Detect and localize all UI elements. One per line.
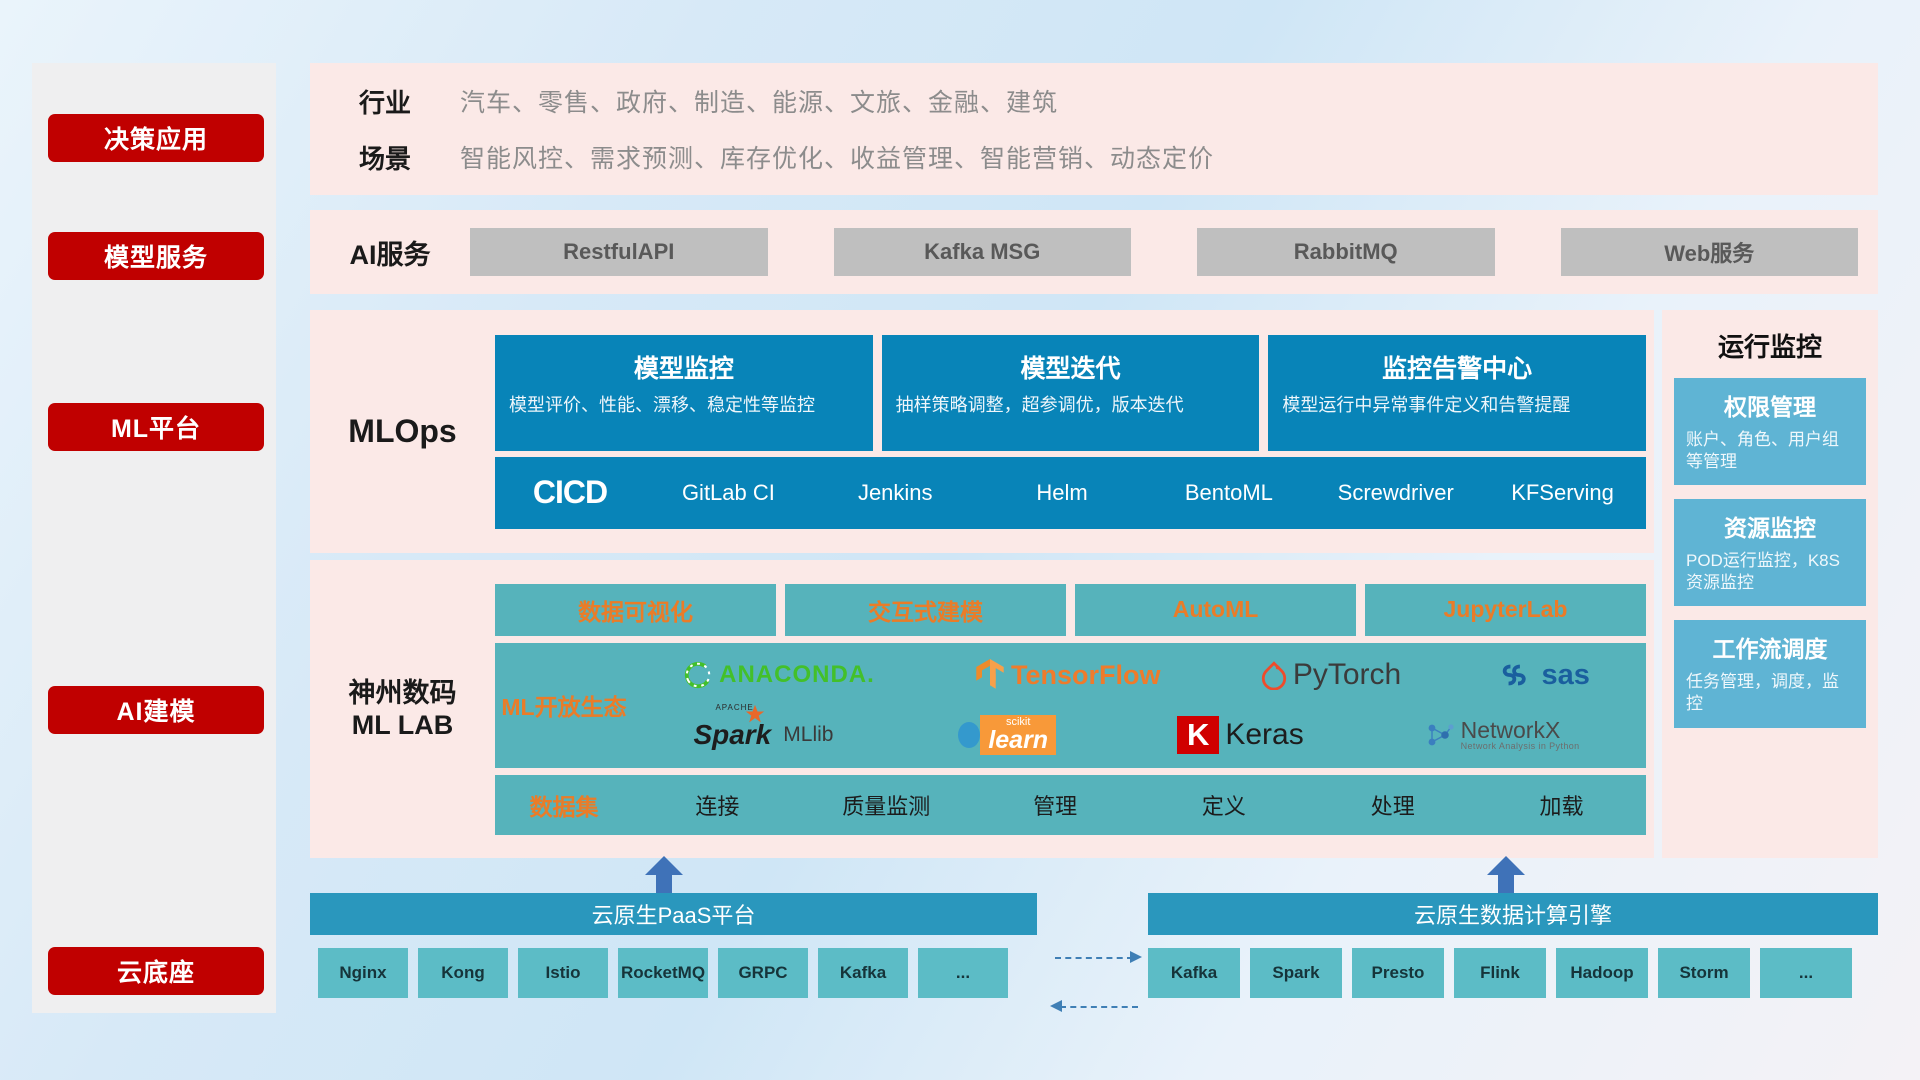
rail-item-ai-modeling[interactable]: AI建模: [48, 686, 264, 734]
service-label: Kafka MSG: [924, 239, 1040, 265]
dataset-item-process[interactable]: 处理: [1308, 789, 1477, 821]
logo-label: TensorFlow: [1011, 660, 1161, 691]
cicd-item-bentoml[interactable]: BentoML: [1145, 481, 1312, 505]
cloud-data-engine-chips: Kafka Spark Presto Flink Hadoop Storm ..…: [1148, 948, 1852, 998]
cicd-row: CICD GitLab CI Jenkins Helm BentoML Scre…: [495, 457, 1646, 529]
ai-service-label: AI服务: [310, 233, 470, 272]
chip-nginx[interactable]: Nginx: [318, 948, 408, 998]
logo-keras: K Keras: [1177, 716, 1304, 754]
industry-list: 汽车、零售、政府、制造、能源、文旅、金融、建筑: [460, 83, 1058, 119]
rail-item-label: 决策应用: [104, 120, 208, 156]
scenario-list: 智能风控、需求预测、库存优化、收益管理、智能营销、动态定价: [460, 139, 1214, 175]
cloud-data-engine-label: 云原生数据计算引擎: [1414, 898, 1612, 930]
logo-label: ANACONDA.: [719, 661, 875, 689]
cicd-item-screwdriver[interactable]: Screwdriver: [1312, 481, 1479, 505]
industry-label: 行业: [310, 83, 460, 120]
chip-flink[interactable]: Flink: [1454, 948, 1546, 998]
chip-grpc[interactable]: GRPC: [718, 948, 808, 998]
mlops-card-title: 模型监控: [509, 349, 859, 385]
service-label: Web服务: [1664, 236, 1754, 268]
runtime-monitoring-title: 运行监控: [1662, 310, 1878, 364]
ml-lab-band: 神州数码 ML LAB 数据可视化 交互式建模 AutoML JupyterLa…: [310, 560, 1654, 858]
chip-kong[interactable]: Kong: [418, 948, 508, 998]
logo-label: PyTorch: [1293, 658, 1401, 692]
tool-label: JupyterLab: [1444, 596, 1568, 623]
rail-item-label: AI建模: [116, 692, 195, 728]
tool-jupyterlab[interactable]: JupyterLab: [1365, 584, 1646, 636]
service-web[interactable]: Web服务: [1561, 228, 1859, 276]
ml-ecosystem-label: ML开放生态: [495, 643, 633, 768]
chip-storm[interactable]: Storm: [1658, 948, 1750, 998]
dataset-item-load[interactable]: 加载: [1477, 789, 1646, 821]
rail-item-label: 云底座: [117, 953, 195, 989]
dataset-row: 数据集 连接 质量监测 管理 定义 处理 加载: [495, 775, 1646, 835]
mlops-card-model-monitoring[interactable]: 模型监控 模型评价、性能、漂移、稳定性等监控: [495, 335, 873, 451]
spark-icon: APACHE Spark: [693, 719, 771, 751]
monitor-card-permission[interactable]: 权限管理 账户、角色、用户组等管理: [1674, 378, 1866, 485]
cloud-paas-chips: Nginx Kong Istio RocketMQ GRPC Kafka ...: [318, 948, 1008, 998]
rail-item-label: 模型服务: [104, 238, 208, 274]
mlops-card-title: 模型迭代: [896, 349, 1246, 385]
logo-networkx: NetworkX Network Analysis in Python: [1425, 719, 1580, 751]
rail-item-ml-platform[interactable]: ML平台: [48, 403, 264, 451]
logo-scikit-learn: scikit learn: [954, 715, 1056, 755]
service-kafka-msg[interactable]: Kafka MSG: [834, 228, 1132, 276]
monitor-card-title: 工作流调度: [1686, 630, 1854, 664]
chip-istio[interactable]: Istio: [518, 948, 608, 998]
dataset-title: 数据集: [495, 788, 633, 822]
rail-item-label: ML平台: [111, 409, 201, 445]
logo-spark-mllib: APACHE Spark MLlib: [693, 719, 833, 751]
logo-label: NetworkX: [1461, 719, 1580, 742]
mlops-card-desc: 抽样策略调整，超参调优，版本迭代: [896, 394, 1246, 417]
cicd-item-gitlab-ci[interactable]: GitLab CI: [645, 481, 812, 505]
dashed-connector-right: [1055, 957, 1133, 959]
dataset-item-manage[interactable]: 管理: [971, 789, 1140, 821]
networkx-subtitle: Network Analysis in Python: [1461, 742, 1580, 751]
monitor-card-resource[interactable]: 资源监控 POD运行监控，K8S资源监控: [1674, 499, 1866, 606]
ai-service-band: AI服务 RestfulAPI Kafka MSG RabbitMQ Web服务: [310, 210, 1878, 294]
sas-icon: [1501, 660, 1535, 690]
ml-ecosystem-row: ML开放生态 ANACONDA.: [495, 643, 1646, 768]
tool-label: AutoML: [1173, 596, 1259, 623]
monitor-card-workflow[interactable]: 工作流调度 任务管理，调度，监控: [1674, 620, 1866, 727]
mlops-band: MLOps 模型监控 模型评价、性能、漂移、稳定性等监控 模型迭代 抽样策略调整…: [310, 310, 1654, 553]
chip-presto[interactable]: Presto: [1352, 948, 1444, 998]
monitor-card-desc: 账户、角色、用户组等管理: [1686, 429, 1854, 473]
service-label: RabbitMQ: [1294, 239, 1398, 265]
tensorflow-icon: [975, 659, 1005, 691]
chip-rocketmq[interactable]: RocketMQ: [618, 948, 708, 998]
cloud-paas-label: 云原生PaaS平台: [592, 898, 756, 930]
logo-anaconda: ANACONDA.: [683, 660, 875, 690]
networkx-icon: [1425, 720, 1455, 750]
dataset-item-define[interactable]: 定义: [1139, 789, 1308, 821]
monitor-card-desc: POD运行监控，K8S资源监控: [1686, 550, 1854, 594]
scenario-row: 场景 智能风控、需求预测、库存优化、收益管理、智能营销、动态定价: [310, 129, 1878, 185]
ml-lab-label: 神州数码 ML LAB: [310, 677, 495, 742]
cicd-item-kfserving[interactable]: KFServing: [1479, 481, 1646, 505]
dashed-arrow-left-icon: [1048, 999, 1062, 1013]
ml-lab-label-line2: ML LAB: [310, 709, 495, 741]
tool-interactive-modeling[interactable]: 交互式建模: [785, 584, 1066, 636]
mlops-card-model-iteration[interactable]: 模型迭代 抽样策略调整，超参调优，版本迭代: [882, 335, 1260, 451]
industry-row: 行业 汽车、零售、政府、制造、能源、文旅、金融、建筑: [310, 73, 1878, 129]
logo-tensorflow: TensorFlow: [975, 659, 1161, 691]
service-rabbitmq[interactable]: RabbitMQ: [1197, 228, 1495, 276]
chip-kafka-right[interactable]: Kafka: [1148, 948, 1240, 998]
cicd-title: CICD: [495, 474, 645, 511]
mlops-card-title: 监控告警中心: [1282, 349, 1632, 385]
logo-pytorch: PyTorch: [1261, 658, 1401, 692]
logo-sas: sas: [1501, 659, 1589, 692]
scenario-label: 场景: [310, 139, 460, 176]
mlops-label: MLOps: [310, 413, 495, 450]
tool-label: 数据可视化: [578, 593, 693, 627]
service-label: RestfulAPI: [563, 239, 674, 265]
scikit-learn-badge: scikit learn: [980, 715, 1056, 755]
spark-star-icon: [745, 704, 765, 724]
service-restful-api[interactable]: RestfulAPI: [470, 228, 768, 276]
chip-spark[interactable]: Spark: [1250, 948, 1342, 998]
runtime-monitoring-panel: 运行监控 权限管理 账户、角色、用户组等管理 资源监控 POD运行监控，K8S资…: [1662, 310, 1878, 858]
rail-item-model-service[interactable]: 模型服务: [48, 232, 264, 280]
logo-label: Keras: [1225, 718, 1303, 752]
chip-kafka[interactable]: Kafka: [818, 948, 908, 998]
monitor-card-title: 资源监控: [1686, 509, 1854, 543]
layer-rail: [32, 63, 276, 1013]
rail-item-cloud-base[interactable]: 云底座: [48, 947, 264, 995]
anaconda-icon: [683, 660, 713, 690]
ml-lab-label-line1: 神州数码: [310, 677, 495, 709]
cloud-paas-bar: 云原生PaaS平台: [310, 893, 1037, 935]
pytorch-icon: [1261, 660, 1287, 690]
cloud-data-engine-bar: 云原生数据计算引擎: [1148, 893, 1878, 935]
dashed-connector-left: [1060, 1006, 1138, 1008]
dashed-arrow-right-icon: [1130, 950, 1144, 964]
monitor-card-desc: 任务管理，调度，监控: [1686, 671, 1854, 715]
chip-more-left[interactable]: ...: [918, 948, 1008, 998]
mlops-card-desc: 模型评价、性能、漂移、稳定性等监控: [509, 394, 859, 417]
cicd-item-helm[interactable]: Helm: [979, 481, 1146, 505]
mlops-card-alert-center[interactable]: 监控告警中心 模型运行中异常事件定义和告警提醒: [1268, 335, 1646, 451]
chip-hadoop[interactable]: Hadoop: [1556, 948, 1648, 998]
dataset-item-connect[interactable]: 连接: [633, 789, 802, 821]
tool-data-visualization[interactable]: 数据可视化: [495, 584, 776, 636]
keras-icon: K: [1177, 716, 1219, 754]
cicd-item-jenkins[interactable]: Jenkins: [812, 481, 979, 505]
mlops-card-desc: 模型运行中异常事件定义和告警提醒: [1282, 394, 1632, 417]
rail-item-decision-app[interactable]: 决策应用: [48, 114, 264, 162]
dataset-item-quality-monitoring[interactable]: 质量监测: [802, 789, 971, 821]
tool-label: 交互式建模: [868, 593, 983, 627]
logo-label: sas: [1541, 659, 1589, 692]
architecture-diagram: 决策应用 模型服务 ML平台 AI建模 云底座 行业 汽车、零售、政府、制造、能…: [0, 0, 1920, 1080]
chip-more-right[interactable]: ...: [1760, 948, 1852, 998]
monitor-card-title: 权限管理: [1686, 388, 1854, 422]
tool-automl[interactable]: AutoML: [1075, 584, 1356, 636]
industry-scenario-band: 行业 汽车、零售、政府、制造、能源、文旅、金融、建筑 场景 智能风控、需求预测、…: [310, 63, 1878, 195]
